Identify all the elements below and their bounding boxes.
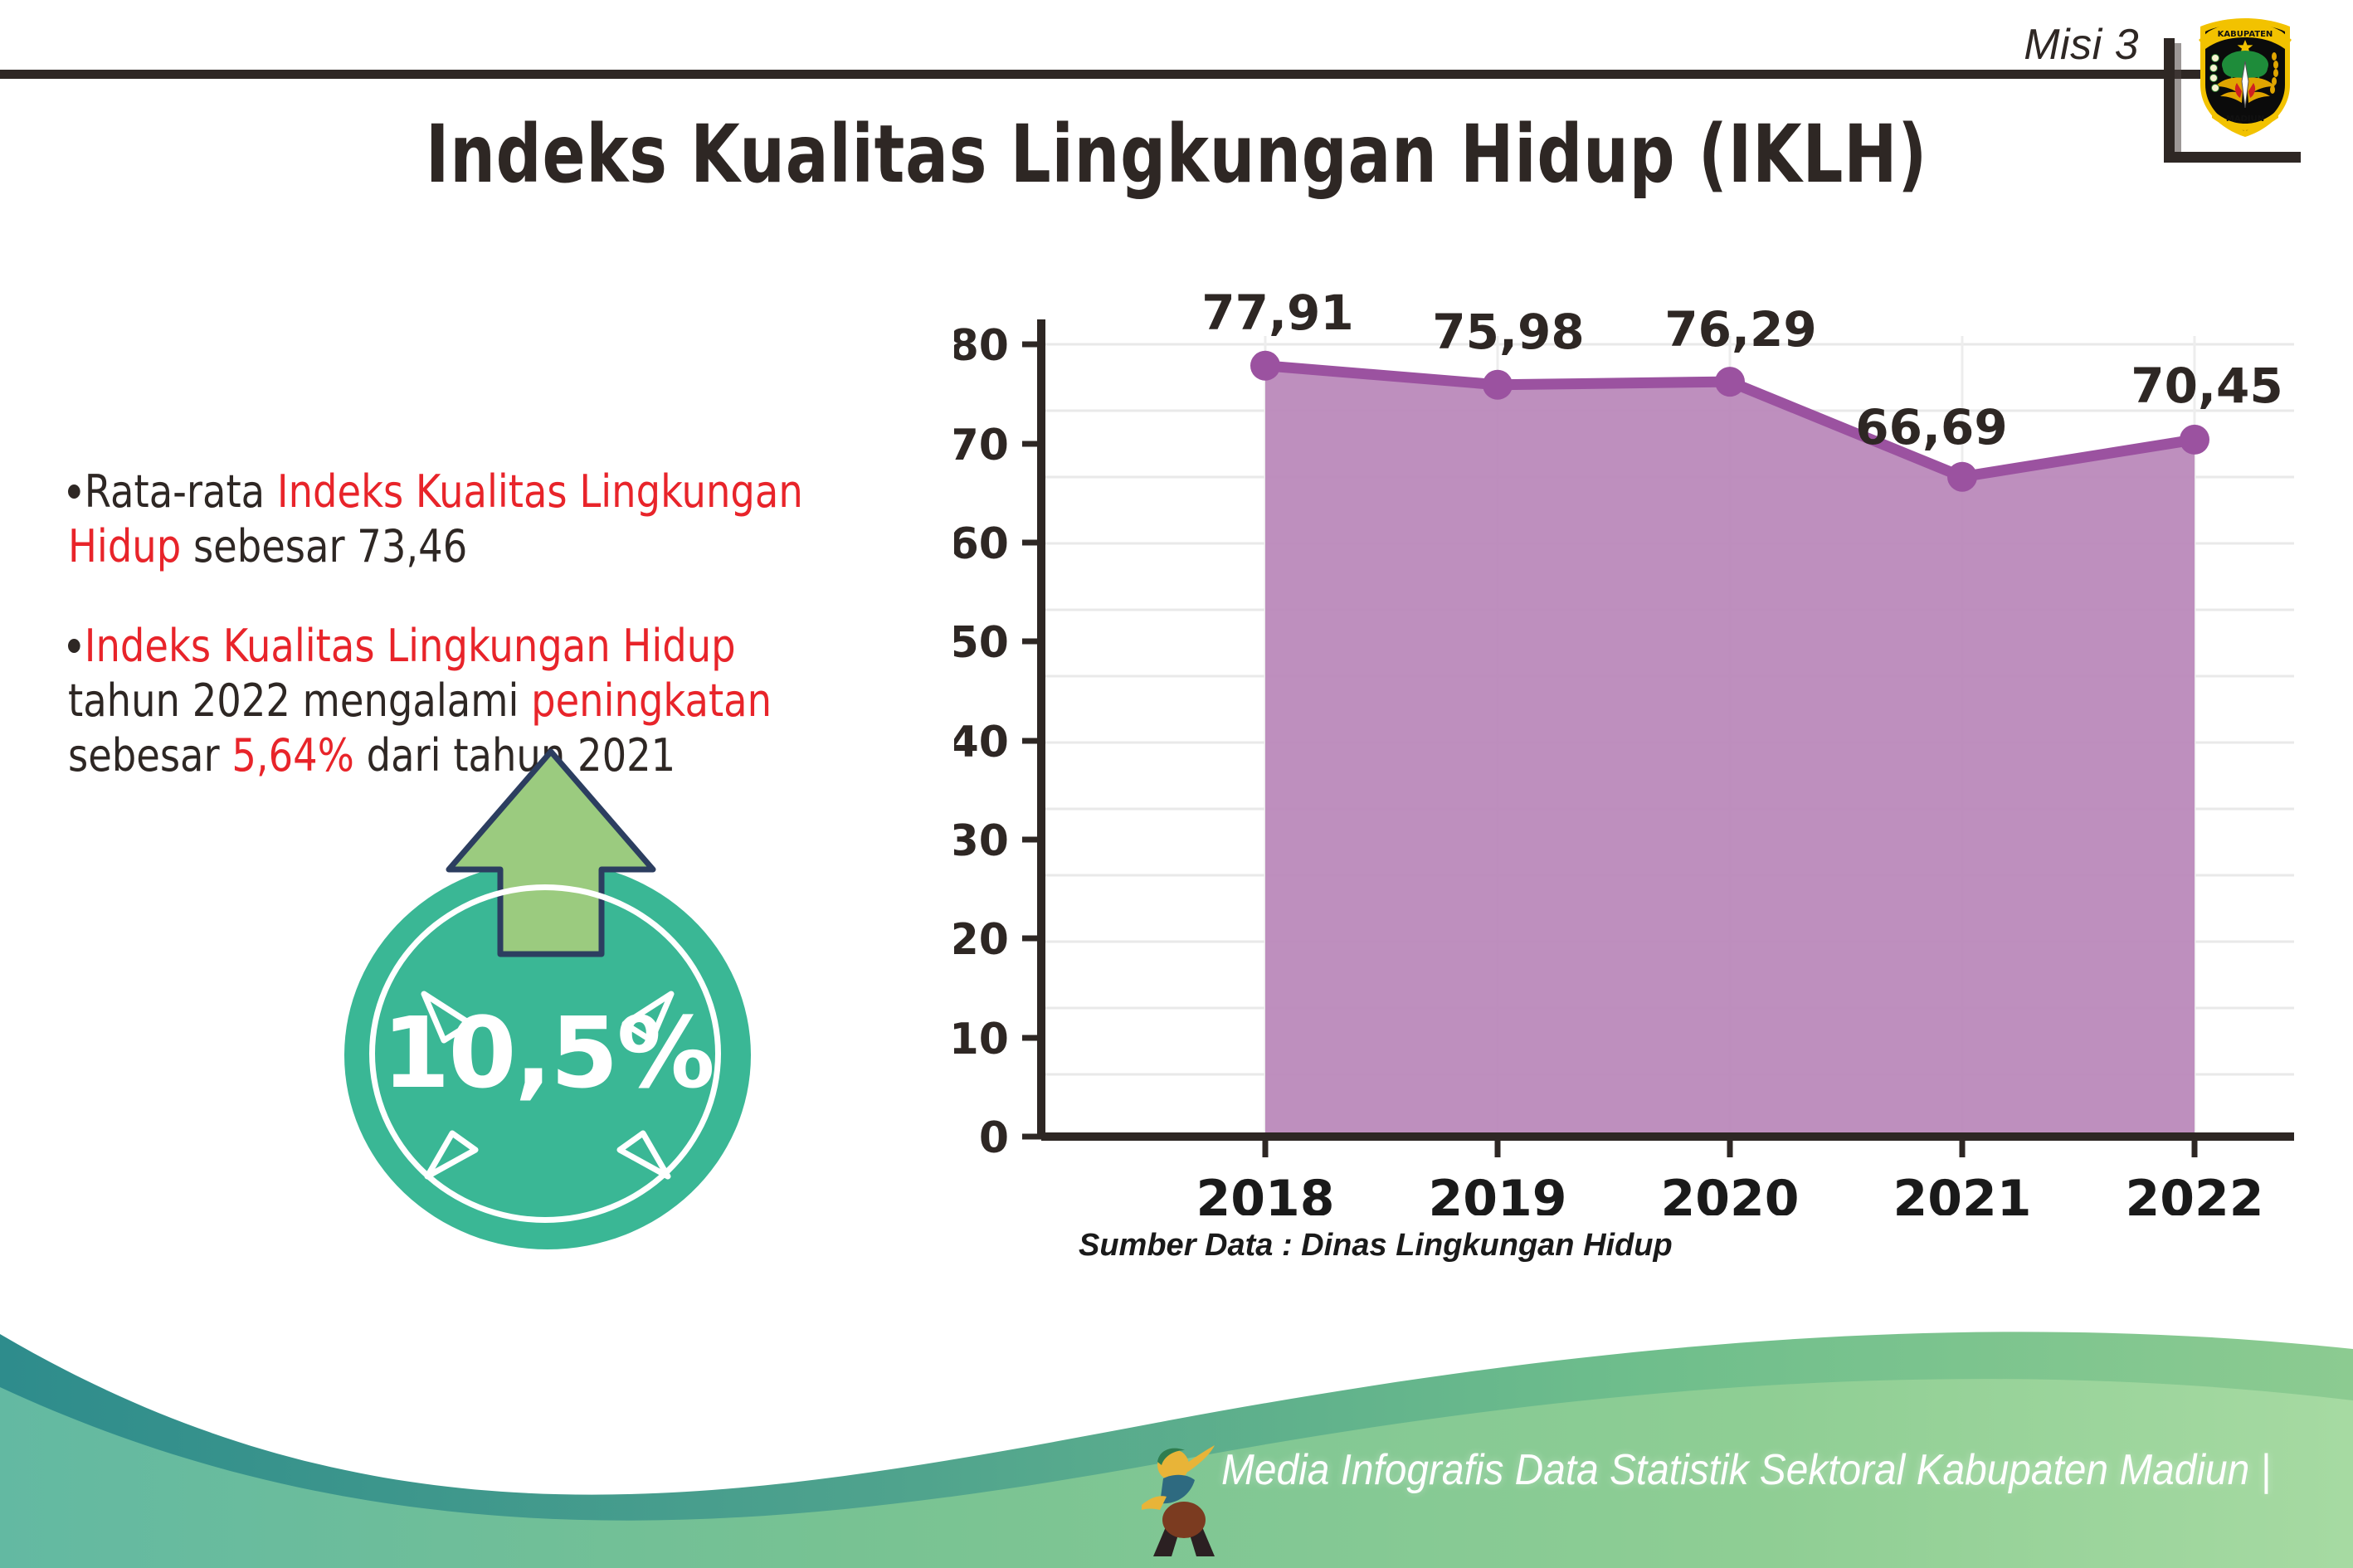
chart-x-tick-labels: 2018 2019 2020 2021 2022 [1196,1170,2264,1215]
header-divider-rule [0,70,2232,79]
y-tick-label: 50 [954,618,1009,668]
header-bracket-shadow [2175,43,2181,163]
footer-caption: Media Infografis Data Statistik Sektoral… [1221,1445,2271,1495]
svg-text:MADIUN: MADIUN [2226,114,2264,124]
y-tick-label: 20 [954,915,1009,965]
point-label: 76,29 [1664,301,1816,358]
page-title: Indeks Kualitas Lingkungan Hidup (IKLH) [236,108,2118,201]
y-tick-label: 70 [954,421,1009,470]
y-tick-label: 40 [954,718,1009,767]
infographic-slide: Misi 3 KABUPATEN [0,0,2353,1568]
point-label: 75,98 [1432,304,1584,360]
bullet-dot-icon [68,639,80,653]
misi-label: Misi 3 [2024,20,2139,70]
bullet-item-average: Rata-rata Indeks Kualitas Lingkungan Hid… [68,465,853,574]
header-bracket-vertical [2164,38,2175,163]
badge-percentage-value: 10,5% [344,996,751,1110]
chart-canvas: 80 70 60 50 40 30 20 10 0 2018 [954,286,2298,1215]
kabupaten-madiun-crest-icon: KABUPATEN MAD [2190,15,2300,139]
x-tick-label: 2022 [2126,1170,2264,1215]
y-tick-label: 30 [954,816,1009,866]
point-label: 77,91 [1201,286,1353,341]
svg-text:KABUPATEN: KABUPATEN [2218,30,2273,39]
bullet2-highlight-1: Indeks Kualitas Lingkungan Hidup [85,620,736,672]
x-tick-label: 2018 [1196,1170,1335,1215]
chart-y-tick-labels: 80 70 60 50 40 30 20 10 0 [954,321,1009,1163]
bullet2-text-part1: tahun 2022 mengalami [68,674,531,727]
bullet1-text-part2: sebesar 73,46 [181,520,467,572]
bullet-dot-icon [68,485,80,499]
bullet2-highlight-2: peningkatan [531,674,772,727]
iklh-area-chart: 80 70 60 50 40 30 20 10 0 2018 [954,286,2298,1215]
y-tick-label: 10 [954,1015,1009,1064]
x-tick-label: 2020 [1661,1170,1800,1215]
bullet1-text-part1: Rata-rata [85,465,277,518]
growth-badge: 10,5% [324,747,772,1261]
chart-area-fill [1265,366,2195,1137]
x-tick-label: 2019 [1429,1170,1567,1215]
point-label: 66,69 [1855,399,2007,455]
x-tick-label: 2021 [1893,1170,2032,1215]
point-label: 70,45 [2131,358,2282,414]
y-tick-label: 0 [979,1113,1009,1163]
bullet2-text-part2: sebesar [68,729,231,782]
chart-source-note: Sumber Data : Dinas Lingkungan Hidup [1079,1228,1673,1264]
media-infografis-logo-icon [1138,1434,1230,1558]
y-tick-label: 60 [954,519,1009,569]
y-tick-label: 80 [954,321,1009,371]
header-bracket-horizontal [2164,152,2301,163]
